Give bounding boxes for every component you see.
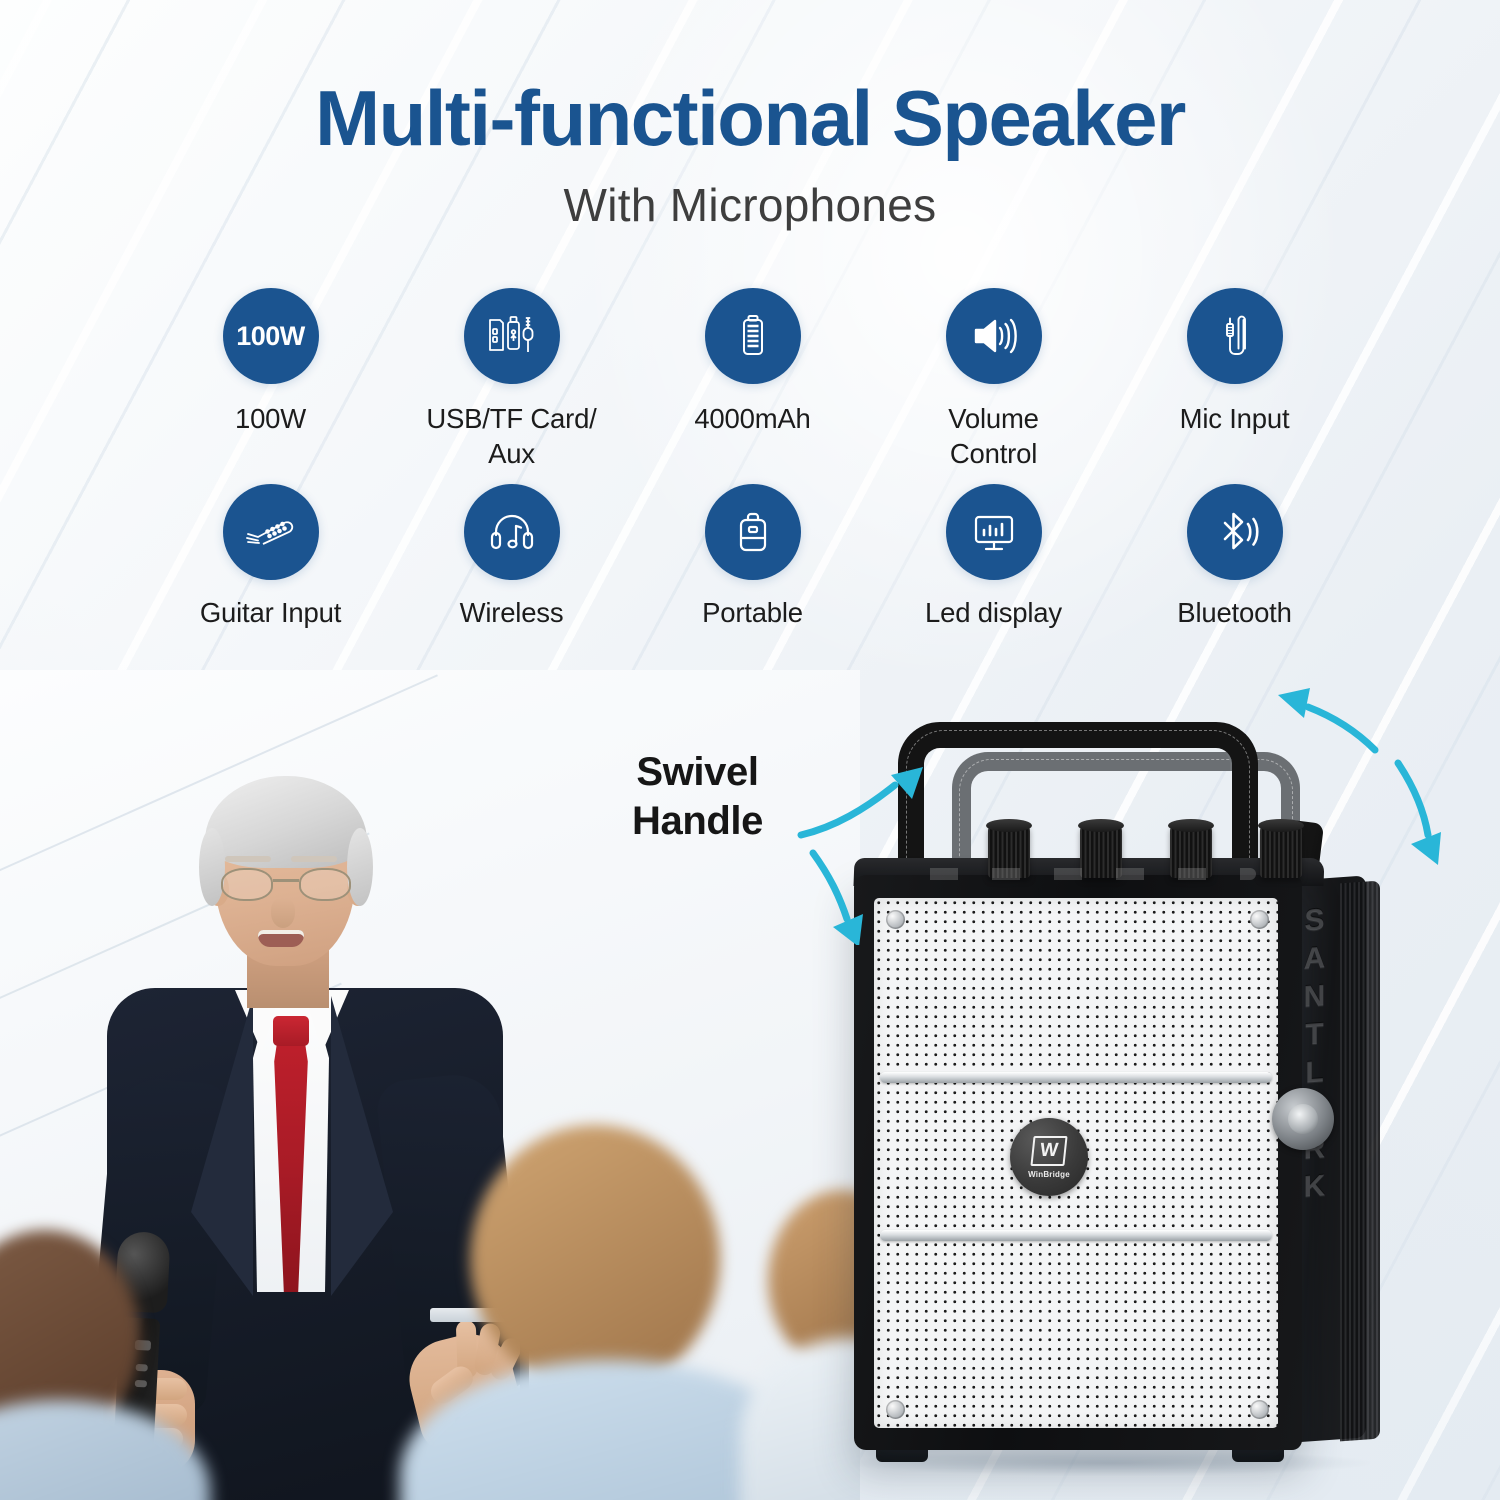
eyeglasses: [221, 868, 351, 902]
grille-screw: [1250, 910, 1269, 929]
page-title: Multi-functional Speaker: [0, 78, 1500, 160]
volume-speaker-icon: [946, 288, 1042, 384]
feature-label: 100W: [235, 401, 306, 436]
feature-grid-row-1: 100W 100W USB/TF Card/ Aux: [150, 288, 1355, 471]
swivel-arrows-right: [1270, 675, 1495, 880]
feature-grid-row-2: Guitar Input Wireless Portable: [150, 484, 1355, 630]
grille-trim-bar: [880, 1230, 1272, 1241]
side-text-label: SANTLARK: [1297, 903, 1331, 1209]
guitar-headstock-icon: [223, 484, 319, 580]
feature-item-wireless: Wireless: [391, 484, 632, 630]
mouth: [258, 930, 304, 947]
page-subtitle: With Microphones: [0, 178, 1500, 232]
grille-screw: [1250, 1400, 1269, 1419]
eyebrow-right: [291, 856, 337, 862]
portable-case-icon: [705, 484, 801, 580]
feature-item-usb-tf-aux: USB/TF Card/ Aux: [391, 288, 632, 471]
feature-item-mic-input: Mic Input: [1114, 288, 1355, 471]
feature-item-bluetooth: Bluetooth: [1114, 484, 1355, 630]
feature-item-portable: Portable: [632, 484, 873, 630]
headphones-music-icon: [464, 484, 560, 580]
feature-label: Wireless: [460, 595, 564, 630]
feature-label: Portable: [702, 595, 803, 630]
feature-label: Bluetooth: [1177, 595, 1291, 630]
feature-item-100w: 100W 100W: [150, 288, 391, 471]
brand-name-label: WinBridge: [1028, 1170, 1070, 1179]
feature-item-led-display: Led display: [873, 484, 1114, 630]
bluetooth-icon: [1187, 484, 1283, 580]
feature-label: Led display: [925, 595, 1062, 630]
feature-item-battery: 4000mAh: [632, 288, 873, 471]
presenter-figure: [95, 780, 515, 1500]
wattage-icon: 100W: [223, 288, 319, 384]
swivel-hinge[interactable]: [1272, 1088, 1334, 1150]
eyebrow-left: [225, 856, 271, 862]
brand-w-mark: W: [1030, 1136, 1067, 1166]
tie-knot: [273, 1016, 309, 1046]
led-display-icon: [946, 484, 1042, 580]
feature-item-volume-control: Volume Control: [873, 288, 1114, 471]
feature-label: Mic Input: [1180, 401, 1290, 436]
audience-head-center: [470, 1125, 720, 1393]
header: Multi-functional Speaker With Microphone…: [0, 78, 1500, 232]
feature-label: Volume Control: [948, 401, 1039, 471]
usb-tf-aux-icon: [464, 288, 560, 384]
nose: [271, 898, 295, 928]
swivel-hinge-center: [1288, 1104, 1318, 1134]
wattage-badge-text: 100W: [236, 321, 305, 352]
feature-item-guitar-input: Guitar Input: [150, 484, 391, 630]
feature-label: Guitar Input: [200, 595, 341, 630]
grille-screw: [886, 1400, 905, 1419]
feature-label: USB/TF Card/ Aux: [426, 401, 596, 471]
swivel-arrows-left: [795, 735, 1015, 950]
hair: [205, 776, 367, 868]
battery-icon: [705, 288, 801, 384]
brand-logo-badge: W WinBridge: [1010, 1118, 1088, 1196]
product-shadow: [850, 1450, 1370, 1476]
mic-jack-icon: [1187, 288, 1283, 384]
speaker-side-ribs: [1340, 881, 1380, 1442]
brand-side-text: SANTLARK: [1287, 888, 1341, 1432]
feature-label: 4000mAh: [694, 401, 810, 436]
grille-trim-bar: [880, 1072, 1272, 1083]
swivel-handle-callout-label: Swivel Handle: [632, 748, 763, 846]
